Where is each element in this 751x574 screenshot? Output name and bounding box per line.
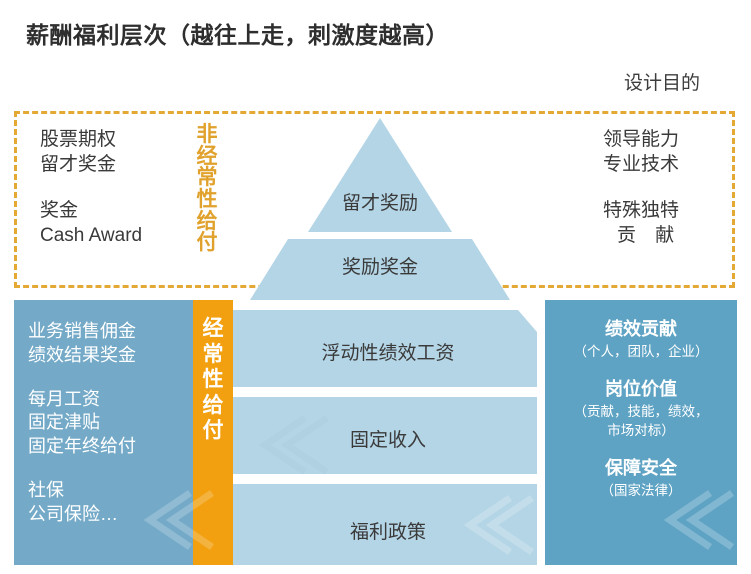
pyramid-level-3-label: 浮动性绩效工资	[263, 338, 513, 365]
item-line: 留才奖金	[40, 153, 190, 178]
vertical-char: 性	[193, 367, 233, 393]
item-line: 公司保险…	[28, 503, 194, 527]
list-item: 每月工资 固定津贴 固定年终给付	[28, 388, 194, 459]
vertical-char: 付	[193, 418, 233, 444]
list-item: 保障安全 （国家法律）	[545, 457, 737, 500]
pyramid-level-5-label: 福利政策	[263, 517, 513, 544]
recurring-left-items: 业务销售佣金 绩效结果奖金 每月工资 固定津贴 固定年终给付 社保 公司保险…	[28, 320, 194, 526]
list-item: 岗位价值 （贡献，技能，绩效， 市场对标）	[545, 378, 737, 440]
list-item: 绩效贡献 （个人，团队，企业）	[545, 318, 737, 361]
vertical-char: 经	[193, 316, 233, 342]
item-line: 每月工资	[28, 388, 194, 412]
list-item: 领导能力 专业技术	[603, 128, 731, 177]
item-sub: 市场对标）	[545, 422, 737, 440]
vertical-char: 付	[194, 232, 220, 254]
vertical-char: 常	[193, 342, 233, 368]
nonrecurring-right-items: 领导能力 专业技术 特殊独特 贡 献	[603, 128, 731, 249]
vertical-char: 经	[194, 146, 220, 168]
item-sub: （个人，团队，企业）	[545, 343, 737, 361]
item-line: 固定津贴	[28, 411, 194, 435]
pyramid-level-2-label: 奖励奖金	[300, 252, 460, 279]
item-heading: 绩效贡献	[545, 318, 737, 341]
item-line: Cash Award	[40, 224, 190, 249]
item-line: 业务销售佣金	[28, 320, 194, 344]
item-sub: （贡献，技能，绩效，	[545, 403, 737, 421]
pyramid-level-1-label: 留才奖励	[300, 188, 460, 215]
pyramid-level-4-label: 固定收入	[263, 425, 513, 452]
vertical-char: 非	[194, 124, 220, 146]
item-sub: （国家法律）	[545, 482, 737, 500]
item-line: 贡 献	[603, 224, 731, 249]
item-line: 股票期权	[40, 128, 190, 153]
list-item: 社保 公司保险…	[28, 479, 194, 527]
item-line: 专业技术	[603, 153, 731, 178]
list-item: 特殊独特 贡 献	[603, 199, 731, 248]
nonrecurring-vertical-label: 非 经 常 性 给 付	[194, 124, 220, 254]
item-heading: 保障安全	[545, 457, 737, 480]
page-title: 薪酬福利层次（越往上走，刺激度越高）	[26, 16, 449, 50]
item-line: 特殊独特	[603, 199, 731, 224]
vertical-char: 给	[194, 211, 220, 233]
item-line: 绩效结果奖金	[28, 344, 194, 368]
item-line: 奖金	[40, 199, 190, 224]
list-item: 股票期权 留才奖金	[40, 128, 190, 177]
item-line: 领导能力	[603, 128, 731, 153]
design-purpose-label: 设计目的	[624, 68, 700, 95]
vertical-char: 常	[194, 167, 220, 189]
recurring-right-items: 绩效贡献 （个人，团队，企业） 岗位价值 （贡献，技能，绩效， 市场对标） 保障…	[545, 318, 737, 516]
vertical-char: 性	[194, 189, 220, 211]
nonrecurring-left-items: 股票期权 留才奖金 奖金 Cash Award	[40, 128, 190, 249]
list-item: 业务销售佣金 绩效结果奖金	[28, 320, 194, 368]
vertical-char: 给	[193, 393, 233, 419]
item-line: 固定年终给付	[28, 435, 194, 459]
item-heading: 岗位价值	[545, 378, 737, 401]
recurring-vertical-label: 经 常 性 给 付	[193, 316, 233, 444]
list-item: 奖金 Cash Award	[40, 199, 190, 248]
item-line: 社保	[28, 479, 194, 503]
